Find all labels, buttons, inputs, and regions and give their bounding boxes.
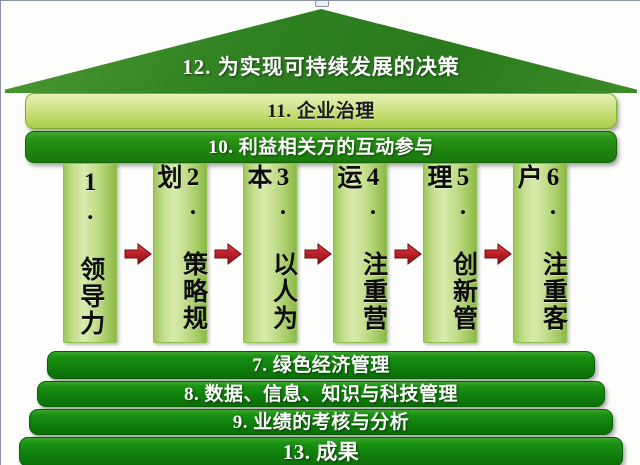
- beam-13[interactable]: 13. 成果: [19, 437, 623, 465]
- column-3[interactable]: 3. 以人为本: [243, 163, 297, 343]
- column-5[interactable]: 5. 创新管理: [423, 163, 477, 343]
- column-6[interactable]: 6. 注重客户: [513, 163, 567, 343]
- selection-handle[interactable]: [315, 0, 329, 7]
- arrow-right-icon-2: [213, 239, 243, 269]
- arrow-right-icon-1: [123, 239, 153, 269]
- arrow-right-icon-5: [483, 239, 513, 269]
- beam-7-label: 7. 绿色经济管理: [252, 356, 390, 375]
- roof-label: 12. 为实现可持续发展的决策: [5, 51, 637, 81]
- column-4-label: 4. 注重营运: [335, 164, 386, 342]
- column-4[interactable]: 4. 注重营运: [333, 163, 387, 343]
- beam-7[interactable]: 7. 绿色经济管理: [47, 351, 595, 379]
- roof-shape[interactable]: 12. 为实现可持续发展的决策: [5, 9, 637, 93]
- column-1[interactable]: 1. 领导力: [63, 163, 117, 343]
- beam-8[interactable]: 8. 数据、信息、知识与科技管理: [37, 381, 605, 407]
- beam-13-label: 13. 成果: [283, 442, 360, 463]
- column-2-label: 2. 策略规划: [155, 164, 206, 342]
- column-2[interactable]: 2. 策略规划: [153, 163, 207, 343]
- beam-9[interactable]: 9. 业绩的考核与分析: [29, 409, 613, 435]
- beam-11[interactable]: 11. 企业治理: [25, 93, 617, 129]
- beam-11-label: 11. 企业治理: [267, 102, 374, 121]
- column-6-label: 6. 注重客户: [515, 164, 566, 342]
- columns-row: 1. 领导力 2. 策略规划 3. 以人为本 4. 注重营运 5. 创新管理 6…: [1, 163, 640, 349]
- column-3-label: 3. 以人为本: [245, 164, 296, 342]
- diagram-canvas: 12. 为实现可持续发展的决策 11. 企业治理 10. 利益相关方的互动参与 …: [0, 0, 640, 465]
- beam-10[interactable]: 10. 利益相关方的互动参与: [25, 131, 617, 163]
- column-1-label: 1. 领导力: [77, 169, 103, 337]
- beam-9-label: 9. 业绩的考核与分析: [233, 413, 410, 432]
- beam-8-label: 8. 数据、信息、知识与科技管理: [184, 385, 458, 404]
- column-5-label: 5. 创新管理: [425, 164, 476, 342]
- arrow-right-icon-4: [393, 239, 423, 269]
- beam-10-label: 10. 利益相关方的互动参与: [208, 138, 434, 157]
- arrow-right-icon-3: [303, 239, 333, 269]
